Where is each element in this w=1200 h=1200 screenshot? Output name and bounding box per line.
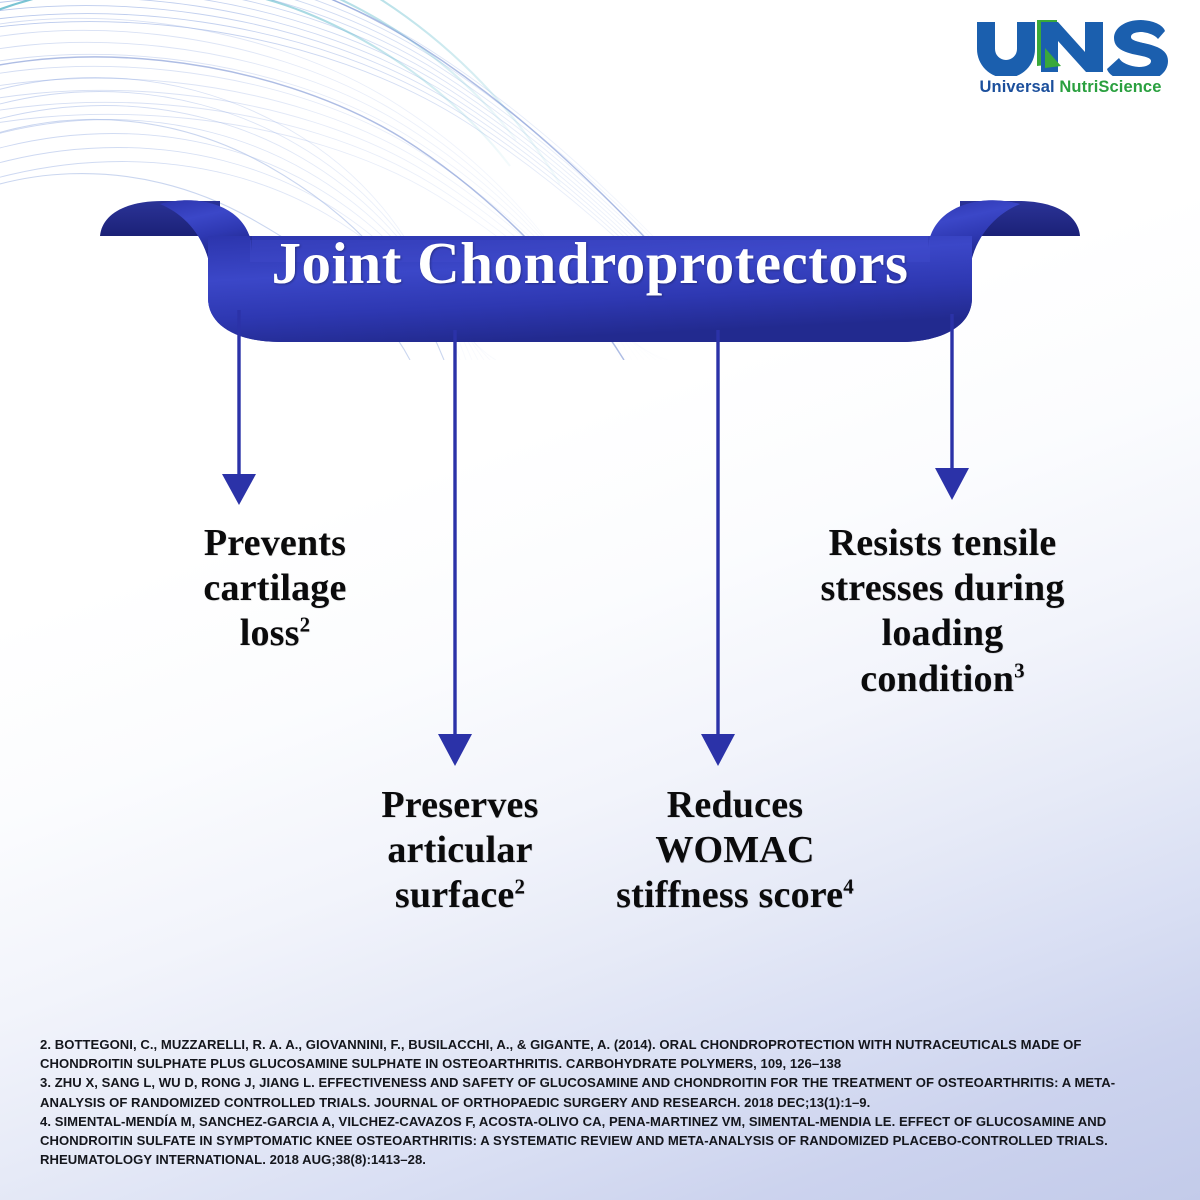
benefit-point-1-line-3: loss2 — [110, 611, 440, 656]
uns-logo-mark — [971, 18, 1171, 76]
citation-ref-2: 2 — [514, 875, 525, 899]
slide-canvas: Universal NutriScience — [0, 0, 1200, 1200]
citation-ref-4: 3 — [1014, 658, 1025, 682]
benefit-point-4: Resists tensile stresses during loading … — [760, 521, 1125, 702]
title-banner: Joint Chondroprotectors — [100, 196, 1080, 346]
references-block: 2. Bottegoni, C., Muzzarelli, R. A. A., … — [40, 1035, 1170, 1170]
benefit-point-1-line-2: cartilage — [110, 566, 440, 611]
benefit-point-3-line-3: stiffness score4 — [565, 873, 905, 918]
benefit-point-1-line-1: Prevents — [110, 521, 440, 566]
benefit-point-4-line-1: Resists tensile — [760, 521, 1125, 566]
logo-tagline-secondary: NutriScience — [1059, 78, 1161, 96]
benefit-point-4-line-4: condition3 — [760, 657, 1125, 702]
reference-item: 3. Zhu X, Sang L, Wu D, Rong J, Jiang L.… — [40, 1073, 1170, 1111]
benefit-point-4-line-3: loading — [760, 611, 1125, 656]
reference-item: 2. Bottegoni, C., Muzzarelli, R. A. A., … — [40, 1035, 1170, 1073]
uns-logo: Universal NutriScience — [963, 18, 1178, 97]
benefit-point-3-line-1: Reduces — [565, 783, 905, 828]
arrow-to-point-3 — [701, 330, 735, 766]
citation-ref-3: 4 — [843, 875, 854, 899]
benefit-point-4-line-2: stresses during — [760, 566, 1125, 611]
arrow-to-point-2 — [438, 330, 472, 766]
benefit-point-3: Reduces WOMAC stiffness score4 — [565, 783, 905, 919]
page-title: Joint Chondroprotectors — [100, 196, 1080, 336]
citation-ref-1: 2 — [300, 613, 311, 637]
logo-tagline-primary: Universal — [980, 78, 1055, 96]
reference-item: 4. Simental-Mendía M, Sanchez-Garcia A, … — [40, 1112, 1170, 1170]
logo-tagline: Universal NutriScience — [963, 78, 1178, 97]
benefit-point-1: Prevents cartilage loss2 — [110, 521, 440, 657]
benefit-point-3-line-2: WOMAC — [565, 828, 905, 873]
